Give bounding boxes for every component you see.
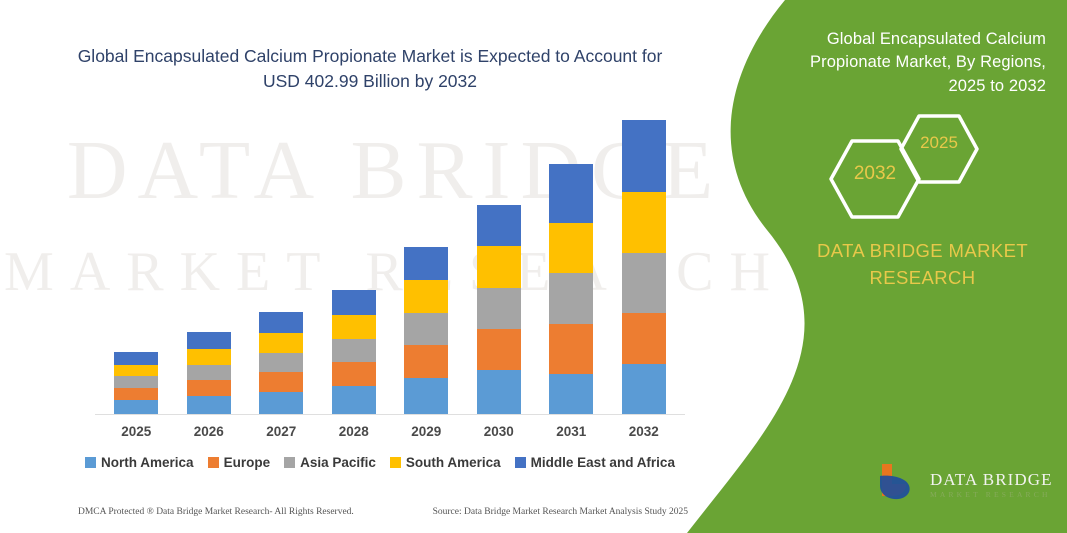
- bar-segment: [187, 349, 231, 364]
- bar-segment: [114, 388, 158, 400]
- brand-text: DATA BRIDGE MARKET RESEARCH: [800, 238, 1045, 291]
- bar-segment: [332, 339, 376, 362]
- logo-text: DATA BRIDGE MARKET RESEARCH: [930, 471, 1053, 499]
- bar-segment: [259, 372, 303, 392]
- bar-segment: [622, 192, 666, 253]
- bar-segment: [187, 396, 231, 415]
- x-axis-tick-label: 2026: [187, 424, 231, 439]
- legend-label: North America: [101, 455, 194, 470]
- bar-segment: [404, 345, 448, 378]
- bar-segment: [259, 333, 303, 353]
- hexagon-badge-2025: 2025: [898, 113, 980, 190]
- legend-label: South America: [406, 455, 501, 470]
- bars-container: [100, 120, 680, 415]
- bar-column: [477, 205, 521, 415]
- legend-item[interactable]: South America: [390, 455, 501, 470]
- legend-item[interactable]: Europe: [208, 455, 271, 470]
- bar-segment: [622, 253, 666, 314]
- bar-segment: [404, 247, 448, 280]
- bar-column: [187, 332, 231, 415]
- bar-column: [549, 164, 593, 415]
- legend-swatch: [284, 457, 295, 468]
- bar-segment: [404, 378, 448, 415]
- bar-column: [404, 247, 448, 415]
- bar-column: [114, 352, 158, 415]
- x-axis-line: [95, 414, 685, 415]
- bar-segment: [332, 290, 376, 316]
- bar-segment: [259, 312, 303, 333]
- bar-segment: [332, 362, 376, 386]
- bar-segment: [622, 364, 666, 415]
- legend-label: Middle East and Africa: [531, 455, 675, 470]
- bar-segment: [114, 376, 158, 388]
- bar-segment: [187, 380, 231, 396]
- bar-segment: [477, 329, 521, 370]
- page-title: Global Encapsulated Calcium Propionate M…: [60, 44, 680, 95]
- bar-segment: [477, 246, 521, 288]
- bar-segment: [549, 273, 593, 324]
- data-bridge-logo: DATA BRIDGE MARKET RESEARCH: [876, 462, 1053, 507]
- legend-item[interactable]: North America: [85, 455, 194, 470]
- x-axis-tick-label: 2025: [114, 424, 158, 439]
- logo-mark-icon: [876, 462, 922, 507]
- infographic-root: DATA BRIDGE MARKET RESEARCH Global Encap…: [0, 0, 1067, 533]
- legend-label: Europe: [224, 455, 271, 470]
- x-axis-tick-label: 2029: [404, 424, 448, 439]
- bar-segment: [549, 324, 593, 375]
- legend-item[interactable]: Middle East and Africa: [515, 455, 675, 470]
- bar-segment: [477, 205, 521, 246]
- legend-swatch: [515, 457, 526, 468]
- bar-segment: [404, 280, 448, 313]
- legend-swatch: [390, 457, 401, 468]
- footer-left-text: DMCA Protected ® Data Bridge Market Rese…: [78, 507, 354, 517]
- x-axis-tick-label: 2028: [332, 424, 376, 439]
- bar-segment: [549, 223, 593, 274]
- bar-segment: [477, 370, 521, 415]
- logo-sub-text: MARKET RESEARCH: [930, 491, 1053, 499]
- logo-main-text: DATA BRIDGE: [930, 471, 1053, 488]
- x-axis-tick-label: 2032: [622, 424, 666, 439]
- bar-column: [622, 120, 666, 415]
- legend-swatch: [85, 457, 96, 468]
- bar-segment: [549, 164, 593, 223]
- bar-segment: [114, 352, 158, 364]
- x-axis-labels: 20252026202720282029203020312032: [100, 424, 680, 439]
- bar-segment: [622, 313, 666, 364]
- bar-segment: [259, 392, 303, 415]
- x-axis-tick-label: 2030: [477, 424, 521, 439]
- legend-label: Asia Pacific: [300, 455, 376, 470]
- footer-right-text: Source: Data Bridge Market Research Mark…: [433, 507, 688, 517]
- bar-segment: [549, 374, 593, 415]
- bar-segment: [187, 332, 231, 349]
- hexagon-2025-label: 2025: [898, 133, 980, 153]
- legend-swatch: [208, 457, 219, 468]
- chart-legend: North AmericaEuropeAsia PacificSouth Ame…: [60, 455, 700, 470]
- x-axis-tick-label: 2027: [259, 424, 303, 439]
- legend-item[interactable]: Asia Pacific: [284, 455, 376, 470]
- bar-segment: [114, 400, 158, 415]
- footer: DMCA Protected ® Data Bridge Market Rese…: [78, 507, 688, 517]
- bar-segment: [187, 365, 231, 380]
- bar-segment: [477, 288, 521, 330]
- stacked-bar-chart: [100, 120, 680, 415]
- bar-segment: [114, 365, 158, 377]
- bar-column: [332, 290, 376, 415]
- bar-segment: [622, 120, 666, 192]
- bar-segment: [259, 353, 303, 372]
- bar-segment: [404, 313, 448, 345]
- bar-segment: [332, 315, 376, 338]
- bar-column: [259, 312, 303, 415]
- x-axis-tick-label: 2031: [549, 424, 593, 439]
- bar-segment: [332, 386, 376, 415]
